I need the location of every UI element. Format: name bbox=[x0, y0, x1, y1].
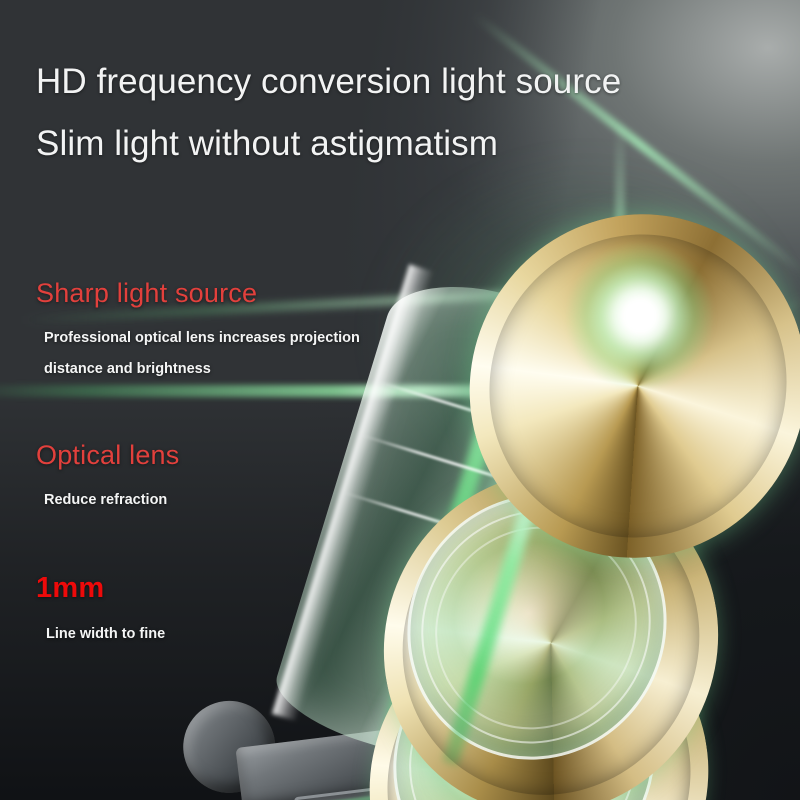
feature-description: Professional optical lens increases proj… bbox=[44, 323, 404, 385]
headline-line-2: Slim light without astigmatism bbox=[36, 124, 498, 164]
headline-line-1: HD frequency conversion light source bbox=[36, 62, 621, 102]
feature-description: Line width to fine bbox=[46, 619, 165, 650]
feature-sharp-light-source: Sharp light source Professional optical … bbox=[36, 278, 404, 385]
feature-optical-lens: Optical lens Reduce refraction bbox=[36, 440, 179, 516]
feature-title: 1mm bbox=[36, 572, 165, 605]
feature-title: Sharp light source bbox=[36, 278, 404, 309]
feature-line-width: 1mm Line width to fine bbox=[36, 572, 165, 650]
feature-description: Reduce refraction bbox=[44, 485, 179, 516]
product-banner: HD frequency conversion light source Sli… bbox=[0, 0, 800, 800]
feature-title: Optical lens bbox=[36, 440, 179, 471]
light-source-core bbox=[565, 241, 715, 391]
